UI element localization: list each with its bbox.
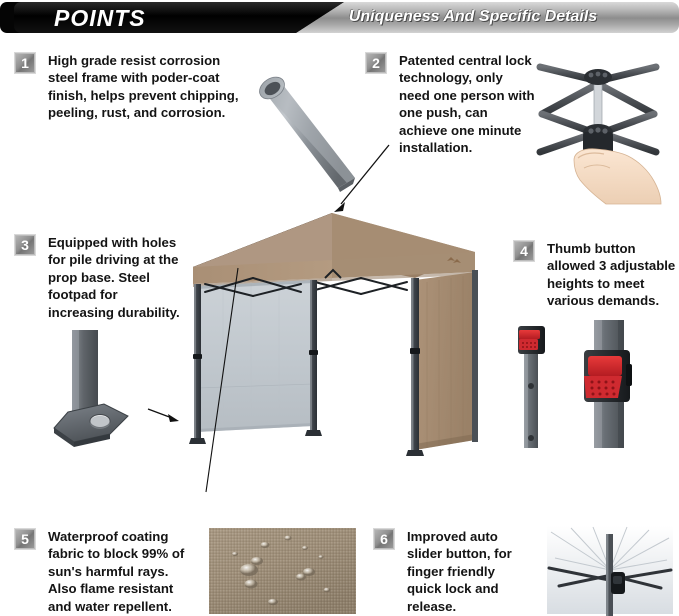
pointer-arrow-2 xyxy=(334,145,389,212)
pointer-arrow-3 xyxy=(148,409,179,422)
pointer-lines-layer xyxy=(0,0,679,616)
pointer-line-5 xyxy=(206,268,238,492)
